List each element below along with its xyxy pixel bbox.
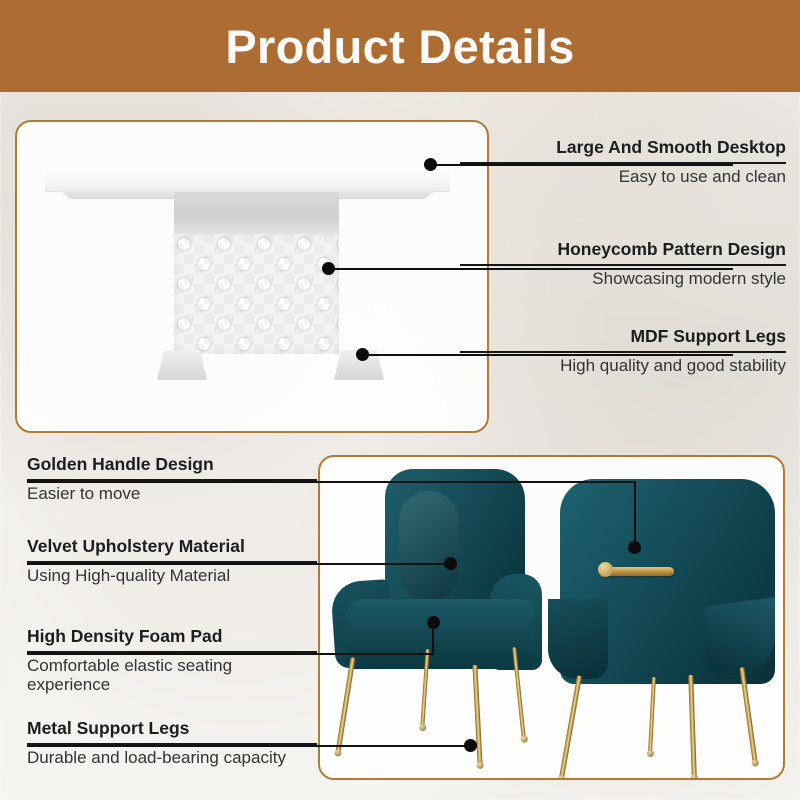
callout-mdf-support-legs: MDF Support Legs High quality and good s… [460, 327, 786, 375]
callout-velvet-upholstery-material: Velvet Upholstery Material Using High-qu… [27, 537, 317, 585]
chair-leg-rear-mid [648, 677, 656, 753]
table-image-frame [15, 120, 489, 433]
chairs-illustration [320, 457, 783, 778]
connector-dot-honeycomb [322, 262, 335, 275]
golden-handle [602, 567, 674, 576]
callout-subtitle: High quality and good stability [460, 356, 786, 375]
callout-rule [460, 351, 786, 353]
chair-leg-rear-left [559, 675, 582, 778]
callout-subtitle: Comfortable elastic seating experience [27, 656, 317, 695]
callout-rule [460, 264, 786, 266]
callout-rule [27, 743, 317, 745]
callout-subtitle: Easier to move [27, 484, 317, 503]
connector-dot-golden-handle [628, 541, 641, 554]
header-banner: Product Details [0, 0, 800, 92]
table-foot-left [157, 350, 207, 380]
connector-dot-desktop [424, 158, 437, 171]
chair-leg-front-left [336, 657, 356, 753]
callout-title: MDF Support Legs [460, 327, 786, 347]
callout-title: Metal Support Legs [27, 719, 317, 739]
table-pedestal-neck [174, 192, 339, 237]
callout-title: Golden Handle Design [27, 455, 317, 475]
callout-large-smooth-desktop: Large And Smooth Desktop Easy to use and… [460, 138, 786, 186]
chair-seat-cushion [345, 599, 535, 669]
callout-subtitle: Using High-quality Material [27, 566, 317, 585]
chair-leg-rear-center [688, 675, 697, 777]
callout-title: High Density Foam Pad [27, 627, 317, 647]
product-details-page: Product Details Large And Smooth Desktop… [0, 0, 800, 800]
callout-subtitle: Showcasing modern style [460, 269, 786, 288]
callout-high-density-foam-pad: High Density Foam Pad Comfortable elasti… [27, 627, 317, 694]
callout-honeycomb-pattern-design: Honeycomb Pattern Design Showcasing mode… [460, 240, 786, 288]
callout-rule [460, 162, 786, 164]
callout-metal-support-legs: Metal Support Legs Durable and load-bear… [27, 719, 317, 767]
chair-back-view [550, 479, 785, 779]
callout-title: Velvet Upholstery Material [27, 537, 317, 557]
table-illustration [17, 122, 487, 431]
page-title: Product Details [225, 23, 574, 70]
callout-rule [27, 479, 317, 481]
callout-subtitle: Durable and load-bearing capacity [27, 748, 317, 767]
callout-rule [27, 561, 317, 563]
connector-dot-metal-legs [464, 739, 477, 752]
connector-dot-mdf-legs [356, 348, 369, 361]
chairs-image-frame [318, 455, 785, 780]
callout-golden-handle-design: Golden Handle Design Easier to move [27, 455, 317, 503]
connector-line-golden-handle-drop [634, 481, 636, 547]
callout-title: Honeycomb Pattern Design [460, 240, 786, 260]
connector-line-foam-pad-riser [432, 622, 434, 654]
table-honeycomb-panel [174, 234, 339, 354]
chair-back-wing [548, 599, 608, 679]
table-desktop [45, 167, 450, 191]
connector-dot-velvet [444, 557, 457, 570]
callout-rule [27, 651, 317, 653]
callout-title: Large And Smooth Desktop [460, 138, 786, 158]
chair-front-view [325, 469, 555, 769]
callout-subtitle: Easy to use and clean [460, 167, 786, 186]
